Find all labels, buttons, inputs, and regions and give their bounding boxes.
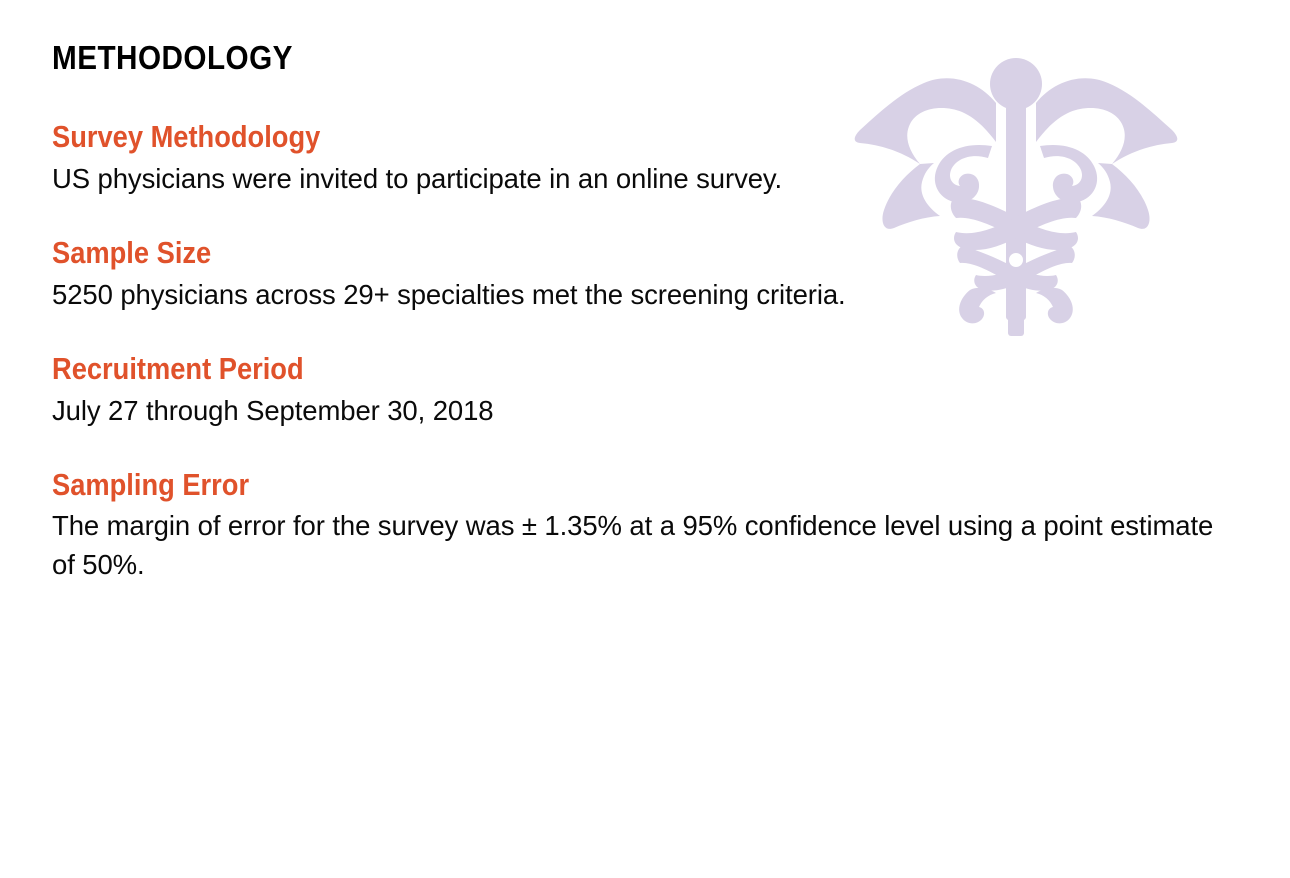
section-heading-sampling-error: Sampling Error xyxy=(52,468,1141,503)
section-sampling-error: Sampling Error The margin of error for t… xyxy=(52,468,1290,585)
section-heading-recruitment-period: Recruitment Period xyxy=(52,352,1141,387)
section-sample-size: Sample Size 5250 physicians across 29+ s… xyxy=(52,236,1290,314)
section-recruitment-period: Recruitment Period July 27 through Septe… xyxy=(52,352,1290,430)
section-body-sample-size: 5250 physicians across 29+ specialties m… xyxy=(52,275,1232,314)
section-body-recruitment-period: July 27 through September 30, 2018 xyxy=(52,391,1232,430)
section-body-sampling-error: The margin of error for the survey was ±… xyxy=(52,506,1232,584)
section-heading-survey-methodology: Survey Methodology xyxy=(52,120,1141,155)
section-body-survey-methodology: US physicians were invited to participat… xyxy=(52,159,1232,198)
page-title: METHODOLOGY xyxy=(52,40,1166,76)
methodology-panel: METHODOLOGY Survey Methodology US physic… xyxy=(0,0,1290,584)
section-survey-methodology: Survey Methodology US physicians were in… xyxy=(52,120,1290,198)
section-heading-sample-size: Sample Size xyxy=(52,236,1141,271)
